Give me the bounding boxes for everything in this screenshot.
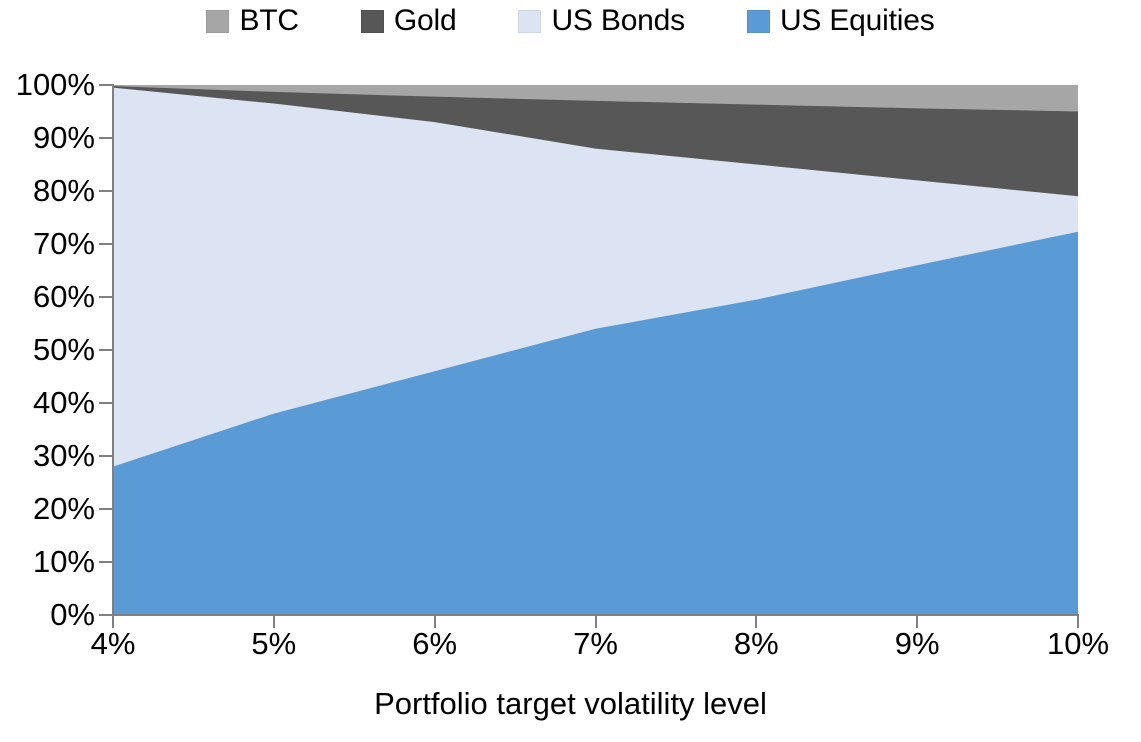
y-tick-0 — [99, 614, 113, 616]
plot-area — [113, 85, 1078, 615]
legend-swatch-us-equities — [747, 10, 770, 33]
chart-legend: BTC Gold US Bonds US Equities — [0, 6, 1141, 36]
stacked-area-plot — [113, 85, 1078, 615]
y-tick-20 — [99, 508, 113, 510]
y-tick-70 — [99, 243, 113, 245]
legend-item-gold[interactable]: Gold — [361, 6, 457, 36]
x-tick-label-8: 8% — [696, 628, 816, 659]
legend-label-us-equities: US Equities — [780, 6, 935, 36]
y-tick-label-100: 100% — [0, 69, 95, 100]
y-tick-label-20: 20% — [0, 493, 95, 524]
y-tick-60 — [99, 296, 113, 298]
legend-item-us-bonds[interactable]: US Bonds — [518, 6, 684, 36]
legend-swatch-btc — [206, 10, 229, 33]
legend-label-us-bonds: US Bonds — [551, 6, 684, 36]
y-tick-label-10: 10% — [0, 546, 95, 577]
y-tick-label-70: 70% — [0, 228, 95, 259]
y-tick-40 — [99, 402, 113, 404]
x-tick-label-6: 6% — [375, 628, 495, 659]
x-tick-label-7: 7% — [536, 628, 656, 659]
y-tick-100 — [99, 84, 113, 86]
y-tick-10 — [99, 561, 113, 563]
x-tick-label-5: 5% — [214, 628, 334, 659]
y-tick-30 — [99, 455, 113, 457]
legend-swatch-us-bonds — [518, 10, 541, 33]
legend-swatch-gold — [361, 10, 384, 33]
chart-container: BTC Gold US Bonds US Equities 0%10%20%30… — [0, 0, 1141, 742]
y-tick-label-0: 0% — [0, 599, 95, 630]
legend-item-us-equities[interactable]: US Equities — [747, 6, 935, 36]
y-tick-label-60: 60% — [0, 281, 95, 312]
y-tick-label-90: 90% — [0, 122, 95, 153]
y-tick-80 — [99, 190, 113, 192]
legend-label-gold: Gold — [394, 6, 457, 36]
x-axis-title: Portfolio target volatility level — [0, 688, 1141, 719]
x-tick-label-4: 4% — [53, 628, 173, 659]
legend-label-btc: BTC — [239, 6, 298, 36]
x-tick-label-10: 10% — [1018, 628, 1138, 659]
y-tick-50 — [99, 349, 113, 351]
legend-item-btc[interactable]: BTC — [206, 6, 298, 36]
y-tick-label-50: 50% — [0, 334, 95, 365]
y-tick-label-80: 80% — [0, 175, 95, 206]
x-tick-label-9: 9% — [857, 628, 977, 659]
y-tick-label-40: 40% — [0, 387, 95, 418]
y-tick-label-30: 30% — [0, 440, 95, 471]
y-tick-90 — [99, 137, 113, 139]
